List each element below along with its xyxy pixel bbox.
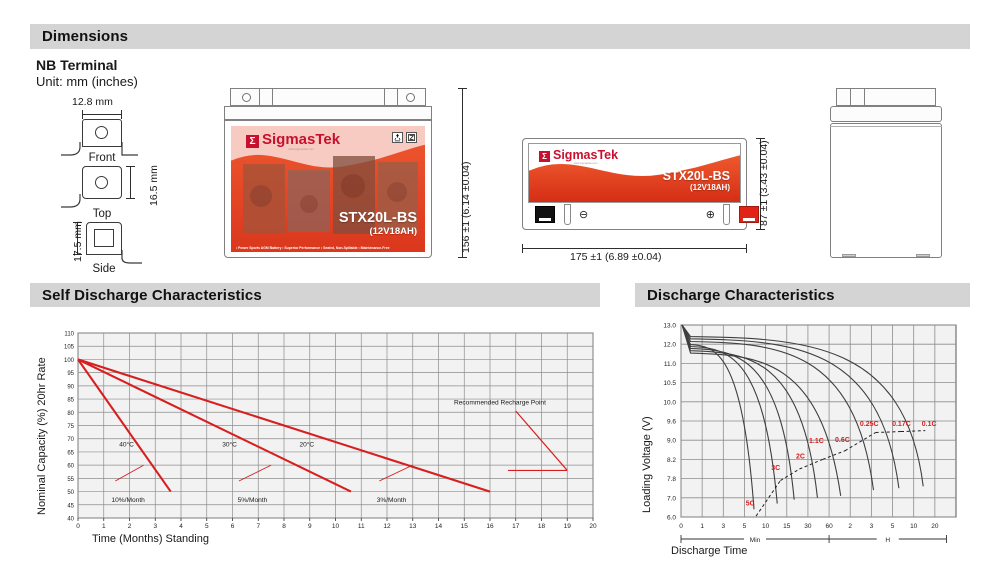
positive-terminal-stripe (743, 218, 755, 221)
svg-text:30°C: 30°C (222, 441, 237, 449)
discharge-plot: 13.012.011.010.510.09.69.08.27.87.06.001… (635, 313, 975, 568)
svg-text:80: 80 (67, 411, 74, 417)
svg-text:2: 2 (848, 523, 852, 530)
svg-text:60: 60 (825, 523, 833, 530)
section-title-discharge: Discharge Characteristics (647, 287, 835, 304)
svg-text:20°C: 20°C (299, 441, 314, 449)
battery-model-label: STX20L-BS (339, 210, 417, 226)
battery-front-view: Σ SigmasTek www.sigmastek.com STX20L-BS … (222, 88, 442, 260)
rear-foot-left (842, 254, 856, 257)
svg-text:2: 2 (128, 523, 132, 530)
svg-text:0.1C: 0.1C (922, 421, 937, 428)
svg-text:50: 50 (67, 490, 74, 496)
svg-text:11.0: 11.0 (664, 361, 677, 368)
section-header-dimensions: Dimensions (30, 24, 970, 49)
length-tick-left (522, 244, 523, 253)
svg-text:11: 11 (358, 523, 365, 530)
nb-terminal-heading: NB Terminal (36, 57, 117, 73)
sigma-logo-icon: Σ (246, 135, 259, 148)
svg-text:85: 85 (67, 398, 74, 404)
vent-slot-left (564, 204, 571, 225)
svg-text:0: 0 (679, 523, 683, 530)
battery-spec-label: (12V18AH) (369, 226, 417, 237)
section-header-self-discharge: Self Discharge Characteristics (30, 283, 600, 307)
brand-lockup: Σ SigmasTek www.sigmastek.com (246, 132, 340, 151)
section-header-discharge: Discharge Characteristics (635, 283, 970, 307)
svg-text:0.25C: 0.25C (860, 421, 879, 428)
terminal-side-caption: Side (76, 263, 132, 275)
svg-text:5: 5 (891, 523, 895, 530)
svg-text:65: 65 (67, 450, 74, 456)
svg-text:8.2: 8.2 (667, 457, 676, 464)
svg-text:1: 1 (700, 523, 704, 530)
svg-text:9.0: 9.0 (667, 438, 676, 445)
terminal-front-view: 12.8 mm Front (60, 96, 180, 158)
terminal-top-hole (95, 176, 108, 189)
side-height-tick-bottom (756, 229, 765, 230)
self-discharge-x-axis-title: Time (Months) Standing (92, 533, 209, 545)
positive-polarity-icon: ⊕ (706, 208, 715, 221)
svg-text:40: 40 (67, 517, 74, 523)
svg-text:60: 60 (67, 464, 74, 470)
sigma-logo-icon: Σ (539, 151, 550, 162)
svg-text:95: 95 (67, 371, 74, 377)
svg-text:0: 0 (76, 523, 80, 530)
svg-text:90: 90 (67, 384, 74, 390)
battery-side-view: Σ SigmasTek www.sigmastek.com STX20L-BS … (522, 138, 772, 230)
svg-text:110: 110 (64, 332, 74, 338)
svg-text:0.6C: 0.6C (835, 437, 850, 444)
lid-divider-4 (397, 88, 398, 106)
svg-text:8: 8 (282, 523, 286, 530)
label-icon-group (392, 132, 417, 143)
battery-rear-view (828, 88, 948, 260)
rear-case-body (830, 123, 942, 258)
svg-text:14: 14 (435, 523, 443, 530)
svg-text:6.0: 6.0 (667, 515, 676, 522)
svg-text:5: 5 (743, 523, 747, 530)
svg-text:10%/Month: 10%/Month (111, 497, 145, 504)
terminal-side-view: 17.5 mm Side (60, 215, 180, 277)
battery-caution-icon (406, 132, 417, 143)
svg-text:40°C: 40°C (119, 441, 134, 449)
lid-divider-3 (384, 88, 385, 106)
negative-terminal-stripe (539, 218, 551, 221)
svg-text:H: H (885, 537, 890, 544)
terminal-top-base-curve (60, 194, 150, 208)
svg-text:30: 30 (804, 523, 812, 530)
discharge-x-axis-title: Discharge Time (671, 545, 747, 557)
terminal-front-hole (95, 126, 108, 139)
svg-text:15: 15 (461, 523, 469, 530)
height-dim-tick-top (458, 88, 467, 89)
svg-text:19: 19 (564, 523, 572, 530)
unit-label: Unit: mm (inches) (36, 74, 138, 89)
battery-label: Σ SigmasTek www.sigmastek.com STX20L-BS … (231, 126, 425, 252)
svg-text:10: 10 (762, 523, 770, 530)
discharge-chart: Loading Voltage (V) 13.012.011.010.510.0… (635, 313, 975, 568)
svg-text:3: 3 (870, 523, 874, 530)
svg-text:17: 17 (512, 523, 520, 530)
lid-divider-2 (272, 88, 273, 106)
brand-name: SigmasTek (262, 132, 340, 147)
svg-text:9: 9 (308, 523, 312, 530)
self-discharge-chart: Nominal Capacity (%) 20hr Rate 404550556… (30, 325, 600, 555)
side-spec-label: (12V18AH) (690, 183, 730, 192)
battery-terminal-hole-right (406, 93, 415, 102)
section-title-dimensions: Dimensions (42, 28, 128, 45)
terminal-top-view: 16.5 mm Top (60, 160, 180, 222)
recycle-icon (392, 132, 403, 143)
svg-text:70: 70 (67, 437, 74, 443)
svg-text:18: 18 (538, 523, 546, 530)
svg-text:5C: 5C (746, 500, 755, 507)
svg-text:3%/Month: 3%/Month (377, 497, 407, 504)
length-dim-line (522, 248, 747, 249)
svg-text:Min: Min (750, 537, 761, 544)
svg-text:15: 15 (783, 523, 791, 530)
battery-length-label: 175 ±1 (6.89 ±0.04) (570, 251, 662, 263)
svg-text:3C: 3C (771, 465, 780, 472)
svg-text:105: 105 (64, 345, 75, 351)
side-battery-label: Σ SigmasTek www.sigmastek.com STX20L-BS … (528, 143, 741, 203)
svg-text:10: 10 (332, 523, 340, 530)
lid-divider-1 (259, 88, 260, 106)
svg-text:13.0: 13.0 (663, 323, 676, 330)
side-brand-lockup: Σ SigmasTek www.sigmastek.com (539, 149, 618, 165)
svg-text:7.8: 7.8 (667, 476, 676, 483)
battery-terminal-hole-left (242, 93, 251, 102)
self-discharge-plot: 4045505560657075808590951001051100123456… (30, 325, 600, 555)
section-title-self-discharge: Self Discharge Characteristics (42, 287, 262, 304)
height-dim-tick-bottom (458, 257, 467, 258)
svg-text:10.0: 10.0 (663, 399, 676, 406)
side-height-tick-top (756, 138, 765, 139)
svg-text:16: 16 (486, 523, 494, 530)
svg-text:4: 4 (179, 523, 183, 530)
rear-lid-divider-1 (850, 88, 851, 106)
length-tick-right (746, 244, 747, 253)
rear-case-seam (830, 126, 942, 127)
vent-slot-right (723, 204, 730, 225)
terminal-depth-label: 17.5 mm (72, 221, 84, 262)
dim-tick-right (121, 110, 122, 119)
svg-text:3: 3 (153, 523, 157, 530)
terminal-side-inner (94, 229, 114, 247)
svg-text:7: 7 (256, 523, 260, 530)
svg-text:75: 75 (67, 424, 74, 430)
svg-text:100: 100 (64, 358, 75, 364)
svg-text:Recommended Recharge Point: Recommended Recharge Point (454, 399, 546, 406)
svg-text:13: 13 (409, 523, 417, 530)
svg-text:7.0: 7.0 (667, 495, 676, 502)
rear-collar (830, 106, 942, 122)
svg-text:6: 6 (231, 523, 235, 530)
svg-text:10.5: 10.5 (663, 380, 676, 387)
svg-text:9.6: 9.6 (667, 419, 676, 426)
svg-text:5%/Month: 5%/Month (238, 497, 268, 504)
brand-name: SigmasTek (553, 149, 618, 162)
rear-foot-right (916, 254, 930, 257)
svg-text:45: 45 (67, 503, 74, 509)
dim-tick-top (126, 166, 135, 167)
svg-text:10: 10 (910, 523, 918, 530)
svg-text:55: 55 (67, 477, 74, 483)
battery-tagline: • Power Sports AGM Battery • Superior Pe… (236, 246, 389, 250)
battery-width-label: 87 ±1 (3.43 ±0.04) (758, 140, 770, 226)
svg-text:20: 20 (931, 523, 939, 530)
dim-arrow-horizontal (82, 114, 122, 115)
terminal-side-base-curve (86, 250, 156, 264)
dim-tick-left (82, 110, 83, 119)
svg-text:5: 5 (205, 523, 209, 530)
svg-text:2C: 2C (796, 453, 805, 460)
side-model-label: STX20L-BS (663, 169, 730, 183)
svg-text:1: 1 (102, 523, 106, 530)
battery-collar (224, 106, 432, 120)
svg-text:12: 12 (383, 523, 391, 530)
svg-text:20: 20 (589, 523, 597, 530)
svg-text:1.1C: 1.1C (809, 438, 824, 445)
svg-text:0.17C: 0.17C (892, 421, 911, 428)
battery-height-label: 156 ±1 (6.14 ±0.04) (460, 161, 472, 253)
svg-text:12.0: 12.0 (663, 342, 676, 349)
negative-polarity-icon: ⊖ (579, 208, 588, 221)
rear-lid-divider-2 (864, 88, 865, 106)
terminal-width-label: 12.8 mm (72, 96, 113, 108)
svg-text:3: 3 (721, 523, 725, 530)
